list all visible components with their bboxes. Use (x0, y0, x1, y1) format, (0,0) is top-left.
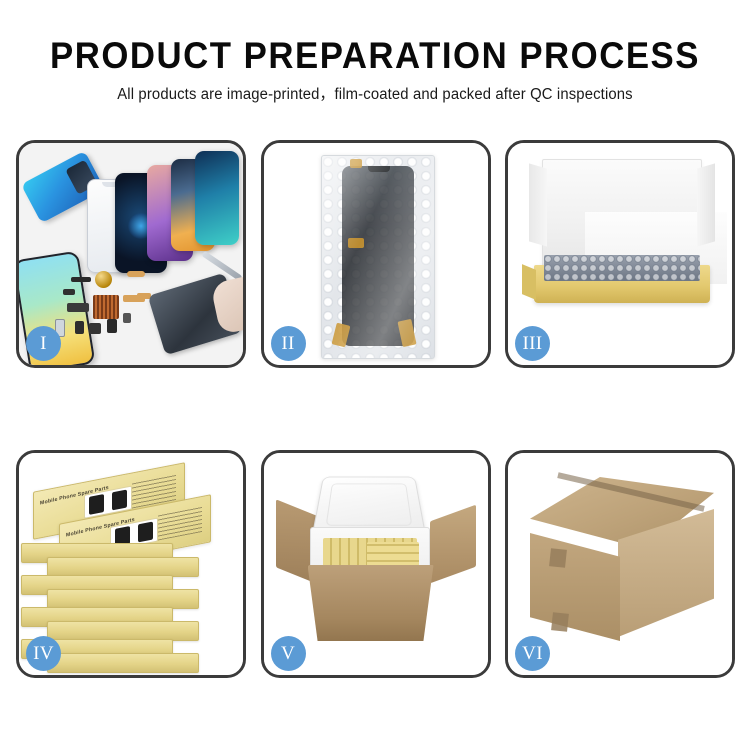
process-step-panel-1[interactable]: I (16, 140, 246, 368)
process-step-panel-6[interactable]: VI (505, 450, 735, 678)
step-badge-2: II (271, 326, 306, 361)
page-title: PRODUCT PREPARATION PROCESS (23, 34, 728, 78)
process-step-panel-5[interactable]: V (261, 450, 491, 678)
flex-cable-part (67, 303, 89, 312)
stacked-box (47, 653, 199, 673)
plastic-sheen-overlay (322, 156, 434, 358)
chip-grid-part (93, 295, 119, 319)
step-badge-3: III (515, 326, 550, 361)
flex-cable-part (75, 321, 84, 334)
step-badge-1: I (26, 326, 61, 361)
carton-flap-right (430, 505, 476, 584)
carton-tape-patch (549, 548, 567, 568)
step-badge-5: V (271, 636, 306, 671)
step-badge-6: VI (515, 636, 550, 671)
carton-tape-patch (551, 612, 569, 632)
kraft-carton-body (308, 565, 434, 641)
phone-teal-gradient (195, 151, 239, 245)
process-step-panel-3[interactable]: III (505, 140, 735, 368)
step-badge-4: IV (26, 636, 61, 671)
speaker-coil-part (95, 271, 112, 288)
flex-cable-part (127, 271, 145, 277)
flex-cable-part (123, 313, 131, 323)
bubble-wrap-fill (544, 255, 700, 281)
product-preparation-infographic: PRODUCT PREPARATION PROCESS All products… (0, 0, 750, 750)
carton-front-face (530, 533, 620, 641)
header: PRODUCT PREPARATION PROCESS All products… (0, 34, 750, 105)
bubble-wrap-bag (321, 155, 435, 359)
stacked-box (47, 621, 199, 641)
process-step-panel-4[interactable]: Mobile Phone Spare Parts Mobile Phone Sp… (16, 450, 246, 678)
box-stack: Mobile Phone Spare Parts Mobile Phone Sp… (19, 471, 243, 663)
flex-cable-part (71, 277, 91, 282)
yellow-tray-base (534, 265, 710, 303)
box-spec-lines (158, 506, 202, 541)
process-steps-grid: I II (16, 140, 735, 678)
process-step-panel-2[interactable]: II (261, 140, 491, 368)
flex-cable-part (89, 323, 101, 334)
stacked-box (47, 589, 199, 609)
flex-cable-part (63, 289, 75, 295)
flex-cable-part (107, 319, 117, 333)
stacked-box (47, 557, 199, 577)
page-subtitle: All products are image-printed，film-coat… (11, 85, 739, 105)
